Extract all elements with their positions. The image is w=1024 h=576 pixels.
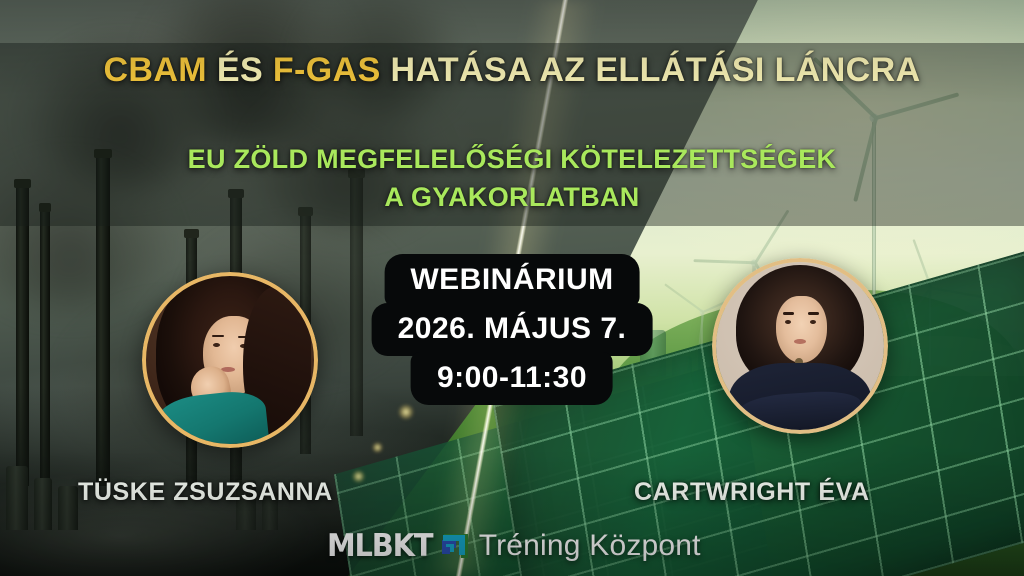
brand-logo: MLBKT Tréning Központ <box>0 528 1024 564</box>
speaker-name-right: CARTWRIGHT ÉVA <box>634 478 870 507</box>
headline-highlight-fgas: F-GAS <box>273 51 381 89</box>
speaker-photo-left <box>146 276 314 444</box>
arrow-corner-icon <box>439 531 471 561</box>
headline-highlight-cbam: CBAM <box>103 51 207 89</box>
light-spark <box>352 470 365 483</box>
subtitle-line-1: EU ZÖLD MEGFELELŐSÉGI KÖTELEZETTSÉGEK <box>0 140 1024 178</box>
light-spark <box>372 442 383 453</box>
logo-wordmark: MLBKT <box>327 528 432 564</box>
headline-connector: ÉS <box>207 51 273 89</box>
light-spark <box>398 404 414 420</box>
speaker-name-left: TÜSKE ZSUZSANNA <box>78 478 333 507</box>
headline-tail: HATÁSA AZ ELLÁTÁSI LÁNCRA <box>381 51 921 89</box>
subtitle-line-2: A GYAKORLATBAN <box>0 178 1024 216</box>
event-info-box: WEBINÁRIUM 2026. MÁJUS 7. 9:00-11:30 <box>372 254 653 401</box>
page-title: CBAM ÉS F-GAS HATÁSA AZ ELLÁTÁSI LÁNCRA <box>0 50 1024 90</box>
avatar <box>142 272 318 448</box>
logo-text: Tréning Központ <box>479 529 701 563</box>
refinery-silo <box>6 466 28 530</box>
event-type-label: WEBINÁRIUM <box>384 254 639 307</box>
webinar-poster: CBAM ÉS F-GAS HATÁSA AZ ELLÁTÁSI LÁNCRA … <box>0 0 1024 576</box>
event-time-label: 9:00-11:30 <box>411 352 613 405</box>
event-date-label: 2026. MÁJUS 7. <box>372 303 653 356</box>
refinery-silo <box>58 486 78 530</box>
refinery-silo <box>34 478 52 530</box>
speaker-photo-right <box>716 262 884 430</box>
avatar <box>712 258 888 434</box>
page-subtitle: EU ZÖLD MEGFELELŐSÉGI KÖTELEZETTSÉGEK A … <box>0 140 1024 217</box>
